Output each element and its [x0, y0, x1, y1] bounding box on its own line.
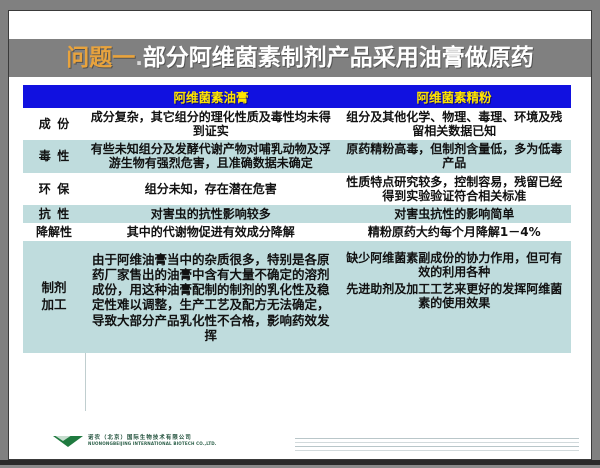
footer-line: [295, 446, 579, 447]
table-row: 毒性 有些未知组分及发酵代谢产物对哺乳动物及浮游生物有强烈危害，且准确数据未确定…: [23, 140, 571, 172]
slide-frame: 问题一.部分阿维菌素制剂产品采用油膏做原药 阿维菌素油膏 阿维菌素精粉: [0, 0, 600, 468]
page-title: 问题一.部分阿维菌素制剂产品采用油膏做原药: [66, 47, 534, 70]
table-header-row: 阿维菌素油膏 阿维菌素精粉: [23, 85, 571, 108]
company-logo-text: 诺农（北京）国际生物技术有限公司 NUONONGBEIJING INTERNAT…: [88, 436, 217, 446]
row-zhijijiagong-col-b-para1: 缺少阿维菌素副成份的协力作用，但可有效的利用各种: [341, 251, 569, 279]
row-label-zhijijiagong-line2: 加工: [26, 297, 82, 314]
table-row: 环保 组分未知，存在潜在危害 性质特点研究较多，控制容易，残留已经得到实验验证符…: [23, 173, 571, 205]
row-huanbao-col-b: 性质特点研究较多，控制容易，残留已经得到实验验证符合相关标准: [337, 173, 571, 205]
row-chengfen-col-b: 组分及其他化学、物理、毒理、环境及残留相关数据已知: [337, 108, 571, 140]
row-label-duxing: 毒性: [23, 140, 85, 172]
title-main: 部分阿维菌素制剂产品采用油膏做原药: [143, 45, 534, 71]
slide-title-bar: 问题一.部分阿维菌素制剂产品采用油膏做原药: [9, 39, 591, 77]
row-label-chengfen-text: 成份: [32, 117, 76, 131]
row-zhijijiagong-col-b: 缺少阿维菌素副成份的协力作用，但可有效的利用各种 先进助剂及加工工艺来更好的发挥…: [337, 241, 571, 353]
row-label-jiangjiexing: 降解性: [23, 223, 85, 241]
table-row: 抗性 对害虫的抗性影响较多 对害虫抗性的影响简单: [23, 205, 571, 223]
title-separator: .: [135, 46, 143, 70]
footer-decoration-lines: [295, 438, 579, 454]
footer-bar: 诺农（北京）国际生物技术有限公司 NUONONGBEIJING INTERNAT…: [9, 429, 591, 459]
row-label-huanbao-text: 环保: [32, 182, 76, 196]
row-duxing-col-b: 原药精粉高毒，但制剂含量低，多为低毒产品: [337, 140, 571, 172]
row-kangxing-col-b: 对害虫抗性的影响简单: [337, 205, 571, 223]
footer-line: [295, 442, 579, 443]
row-label-chengfen: 成份: [23, 108, 85, 140]
title-prefix: 问题一: [66, 45, 135, 71]
table-header-col-a: 阿维菌素油膏: [85, 85, 337, 108]
company-logo: 诺农（北京）国际生物技术有限公司 NUONONGBEIJING INTERNAT…: [53, 434, 217, 448]
row-zhijijiagong-col-b-para2: 先进助剂及加工工艺来更好的发挥阿维菌素的使用效果: [341, 282, 569, 310]
row-label-kangxing-text: 抗性: [32, 207, 76, 221]
row-label-kangxing: 抗性: [23, 205, 85, 223]
row-jiangjiexing-col-b: 精粉原药大约每个月降解1－4%: [337, 223, 571, 241]
triangle-logo-highlight: [54, 435, 72, 441]
top-white-band: [9, 11, 591, 39]
table-header-blank: [23, 85, 85, 108]
table-header-col-b: 阿维菌素精粉: [337, 85, 571, 108]
row-zhijijiagong-col-a: 由于阿维油膏当中的杂质很多，特别是各原药厂家售出的油膏中含有大量不确定的溶剂成份…: [85, 241, 337, 353]
comparison-table: 阿维菌素油膏 阿维菌素精粉 成份 成分复杂，其它组分的理化性质及毒性均未得到证实…: [23, 85, 571, 353]
table-row: 制剂 加工 由于阿维油膏当中的杂质很多，特别是各原药厂家售出的油膏中含有大量不确…: [23, 241, 571, 353]
row-duxing-col-a: 有些未知组分及发酵代谢产物对哺乳动物及浮游生物有强烈危害，且准确数据未确定: [85, 140, 337, 172]
row-kangxing-col-a: 对害虫的抗性影响较多: [85, 205, 337, 223]
footer-line: [295, 450, 579, 451]
company-name-en: NUONONGBEIJING INTERNATIONAL BIOTECH CO.…: [88, 442, 217, 446]
row-label-zhijijiagong-line1: 制剂: [26, 280, 82, 297]
footer-line: [295, 438, 579, 439]
content-area: 阿维菌素油膏 阿维菌素精粉 成份 成分复杂，其它组分的理化性质及毒性均未得到证实…: [9, 77, 591, 459]
row-huanbao-col-a: 组分未知，存在潜在危害: [85, 173, 337, 205]
table-row: 降解性 其中的代谢物促进有效成分降解 精粉原药大约每个月降解1－4%: [23, 223, 571, 241]
row-label-huanbao: 环保: [23, 173, 85, 205]
row-jiangjiexing-col-a: 其中的代谢物促进有效成分降解: [85, 223, 337, 241]
row-chengfen-col-a: 成分复杂，其它组分的理化性质及毒性均未得到证实: [85, 108, 337, 140]
slide-body: 问题一.部分阿维菌素制剂产品采用油膏做原药 阿维菌素油膏 阿维菌素精粉: [8, 10, 592, 460]
row-label-duxing-text: 毒性: [32, 149, 76, 163]
table-row: 成份 成分复杂，其它组分的理化性质及毒性均未得到证实 组分及其他化学、物理、毒理…: [23, 108, 571, 140]
triangle-logo-icon: [53, 434, 83, 448]
row-label-zhijijiagong: 制剂 加工: [23, 241, 85, 353]
